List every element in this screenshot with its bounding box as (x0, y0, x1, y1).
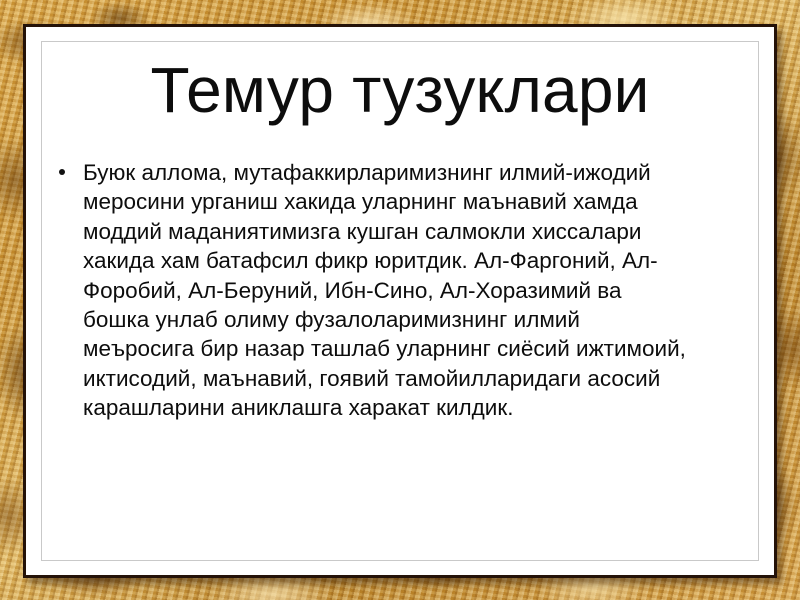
slide-content-card: Темур тузуклари Буюк аллома, мутафаккирл… (23, 24, 777, 578)
slide-title: Темур тузуклари (42, 58, 758, 122)
slide-bullet-list: Буюк аллома, мутафаккирларимизнинг илмий… (52, 158, 692, 423)
bullet-item-text: Буюк аллома, мутафаккирларимизнинг илмий… (83, 160, 686, 420)
bullet-point-icon (59, 169, 65, 175)
slide-content-inner-frame: Темур тузуклари Буюк аллома, мутафаккирл… (41, 41, 759, 561)
presentation-slide: Темур тузуклари Буюк аллома, мутафаккирл… (0, 0, 800, 600)
bullet-list-item: Буюк аллома, мутафаккирларимизнинг илмий… (52, 158, 692, 423)
